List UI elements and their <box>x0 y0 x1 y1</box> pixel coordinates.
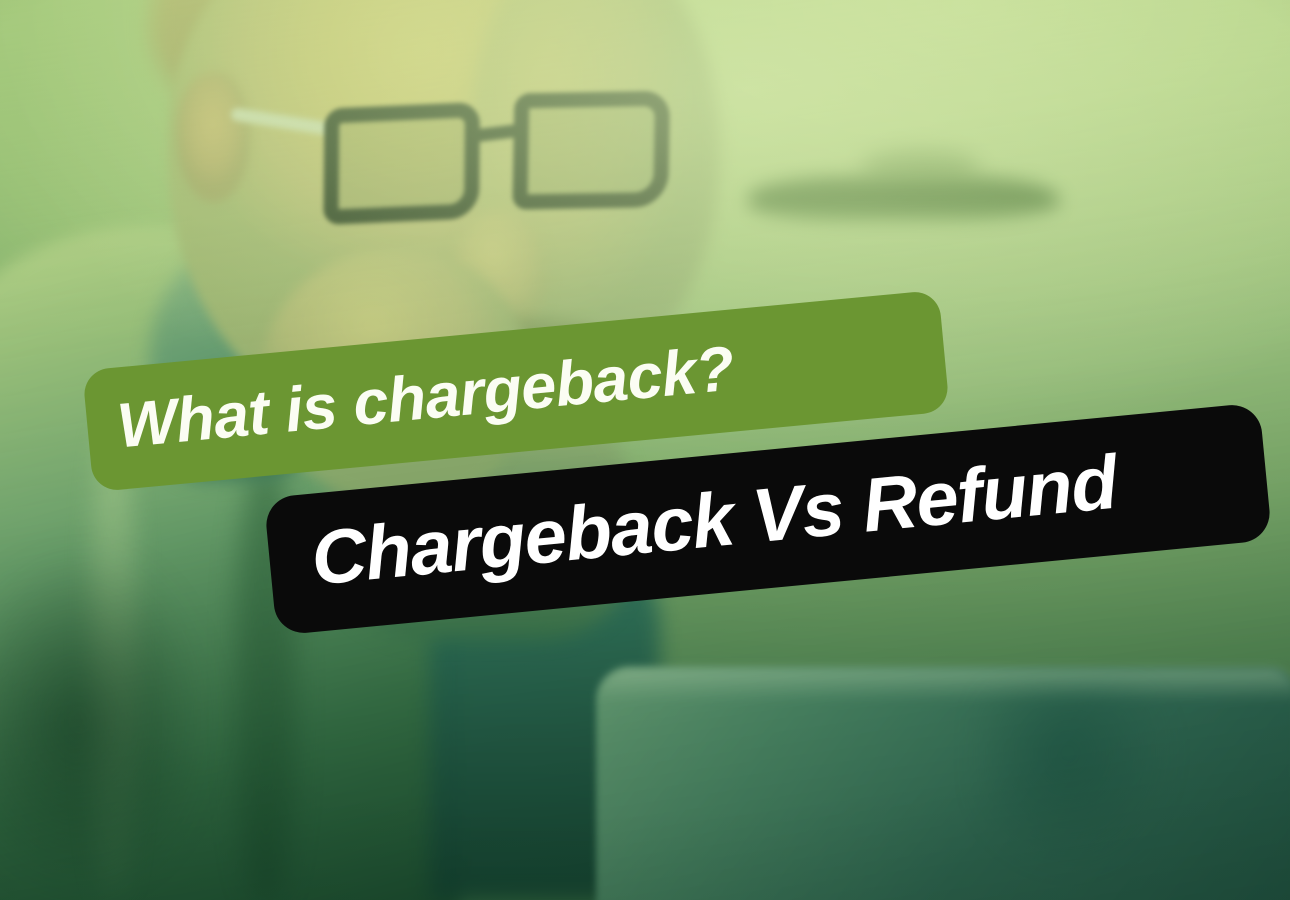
hero-banner-image: What is chargeback? Chargeback Vs Refund <box>0 0 1290 900</box>
